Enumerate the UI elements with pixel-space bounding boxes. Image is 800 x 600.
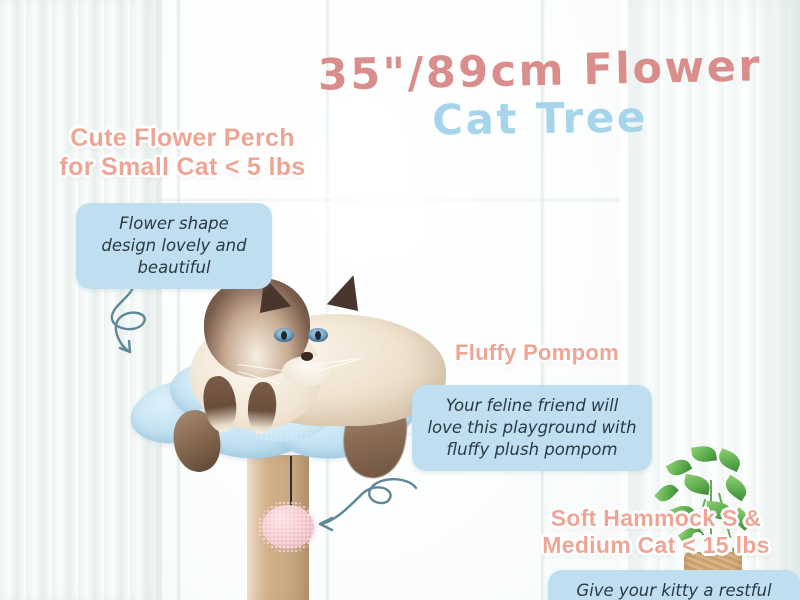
curly-arrow-to-pompom (304, 466, 424, 546)
callout-soft-hammock: Give your kitty a restful (548, 570, 800, 600)
cat-head (204, 278, 310, 378)
heading-line-1: Fluffy Pompom (455, 340, 619, 365)
heading-line-1: Cute Flower Perch (70, 124, 295, 152)
title-line-2: Cat Tree (300, 93, 781, 145)
cat-pupil (281, 331, 287, 340)
feature-heading-fluffy-pompom: Fluffy Pompom (412, 340, 662, 366)
feature-heading-flower-perch: Cute Flower Perch for Small Cat < 5 lbs (40, 124, 325, 182)
title-line-1: 35"/89cm Flower (300, 43, 781, 99)
cat-eye (308, 328, 328, 342)
plant-leaf (722, 475, 751, 502)
feature-heading-soft-hammock: Soft Hammock S & Medium Cat < 15 lbs (512, 505, 800, 558)
plant-leaf (683, 474, 712, 495)
cat-photo (148, 268, 448, 473)
plant-leaf (654, 481, 679, 506)
cat-eye (274, 328, 294, 342)
heading-line-2: for Small Cat < 5 lbs (60, 153, 306, 181)
heading-line-2: Medium Cat < 15 lbs (542, 532, 769, 558)
cat-nose (301, 352, 313, 361)
heading-line-1: Soft Hammock S & (551, 505, 762, 531)
plant-leaf (691, 444, 717, 463)
page-title: 35"/89cm Flower Cat Tree (300, 48, 780, 142)
callout-flower-perch: Flower shape design lovely and beautiful (76, 203, 272, 289)
cat-whisker (238, 364, 284, 371)
callout-fluffy-pompom: Your feline friend will love this playgr… (412, 385, 652, 471)
cat-ear (327, 271, 365, 311)
plant-leaf (716, 448, 744, 472)
infographic-canvas: 35"/89cm Flower Cat Tree Cute Flower Per… (0, 0, 800, 600)
cat-pupil (315, 331, 321, 340)
